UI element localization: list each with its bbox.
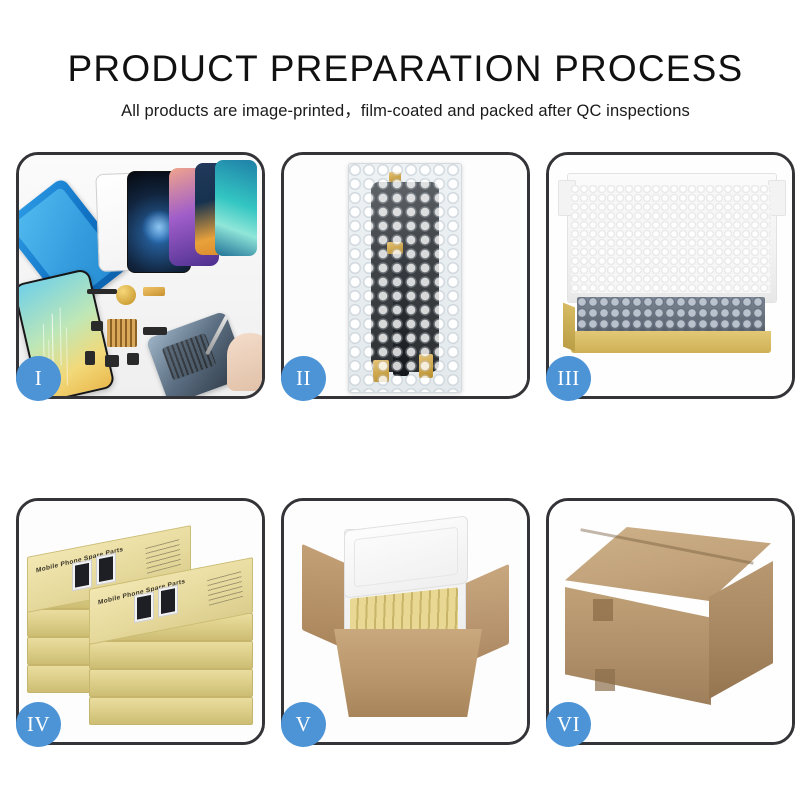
step-badge-iii: III	[546, 356, 591, 401]
box-product-photo	[134, 591, 154, 623]
page-subtitle: All products are image-printed，film-coat…	[0, 90, 811, 121]
carton-tape-mark	[595, 669, 615, 691]
flex-cable-icon	[143, 287, 165, 296]
small-part-icon	[85, 351, 95, 365]
step-badge-i: I	[16, 356, 61, 401]
product-preparation-infographic: PRODUCT PREPARATION PROCESS All products…	[0, 0, 811, 811]
box-product-photo	[96, 553, 116, 586]
box-spec-text	[145, 537, 181, 574]
step-badge-iv: IV	[16, 702, 61, 747]
connector-icon	[387, 242, 403, 254]
step-card-v: V	[281, 498, 530, 745]
step-image-carton-with-foam	[284, 501, 527, 742]
connector-icon	[419, 354, 433, 378]
step-image-open-mailer-box	[549, 155, 792, 396]
bubble-wrap-bag-icon	[348, 163, 462, 393]
step-image-bubble-wrapped-screen	[284, 155, 527, 396]
stacked-box	[89, 697, 253, 725]
box-spec-text	[207, 569, 243, 606]
connector-icon	[373, 360, 389, 382]
small-part-icon	[105, 355, 119, 367]
flex-cable-icon	[393, 252, 409, 376]
small-part-icon	[127, 353, 139, 365]
small-part-icon	[91, 321, 103, 331]
stacked-box	[89, 641, 253, 669]
step-badge-v: V	[281, 702, 326, 747]
step-badge-ii: II	[281, 356, 326, 401]
step-card-i: I	[16, 152, 265, 399]
step-card-iii: III	[546, 152, 795, 399]
header: PRODUCT PREPARATION PROCESS All products…	[0, 0, 811, 121]
phone-screen-teal-icon	[215, 160, 257, 256]
step-card-vi: VI	[546, 498, 795, 745]
step-image-stacked-retail-boxes: Mobile Phone Spare Parts Mobile Phone Sp…	[19, 501, 262, 742]
small-part-icon	[87, 289, 117, 294]
step-image-sealed-carton	[549, 501, 792, 742]
box-product-photo	[158, 585, 178, 618]
step-card-iv: Mobile Phone Spare Parts Mobile Phone Sp…	[16, 498, 265, 745]
carton-left-face	[565, 587, 711, 705]
chip-array-icon	[107, 319, 137, 347]
box-product-photo	[72, 559, 92, 591]
connector-icon	[389, 172, 401, 182]
speaker-part-icon	[116, 285, 136, 305]
stacked-box	[89, 669, 253, 697]
carton-body	[334, 629, 482, 717]
hand-icon	[227, 333, 262, 391]
gold-box-front-icon	[571, 331, 771, 353]
small-part-icon	[143, 327, 167, 335]
bubble-wrapped-contents-icon	[577, 297, 765, 333]
foam-sheet-icon	[571, 185, 771, 293]
page-title: PRODUCT PREPARATION PROCESS	[0, 0, 811, 90]
carton-tape-mark	[593, 599, 613, 621]
steps-grid: I II	[16, 152, 795, 797]
box-stack: Mobile Phone Spare Parts Mobile Phone Sp…	[25, 517, 257, 729]
step-image-raw-parts	[19, 155, 262, 396]
step-badge-vi: VI	[546, 702, 591, 747]
step-card-ii: II	[281, 152, 530, 399]
gold-box-side-icon	[563, 303, 575, 352]
